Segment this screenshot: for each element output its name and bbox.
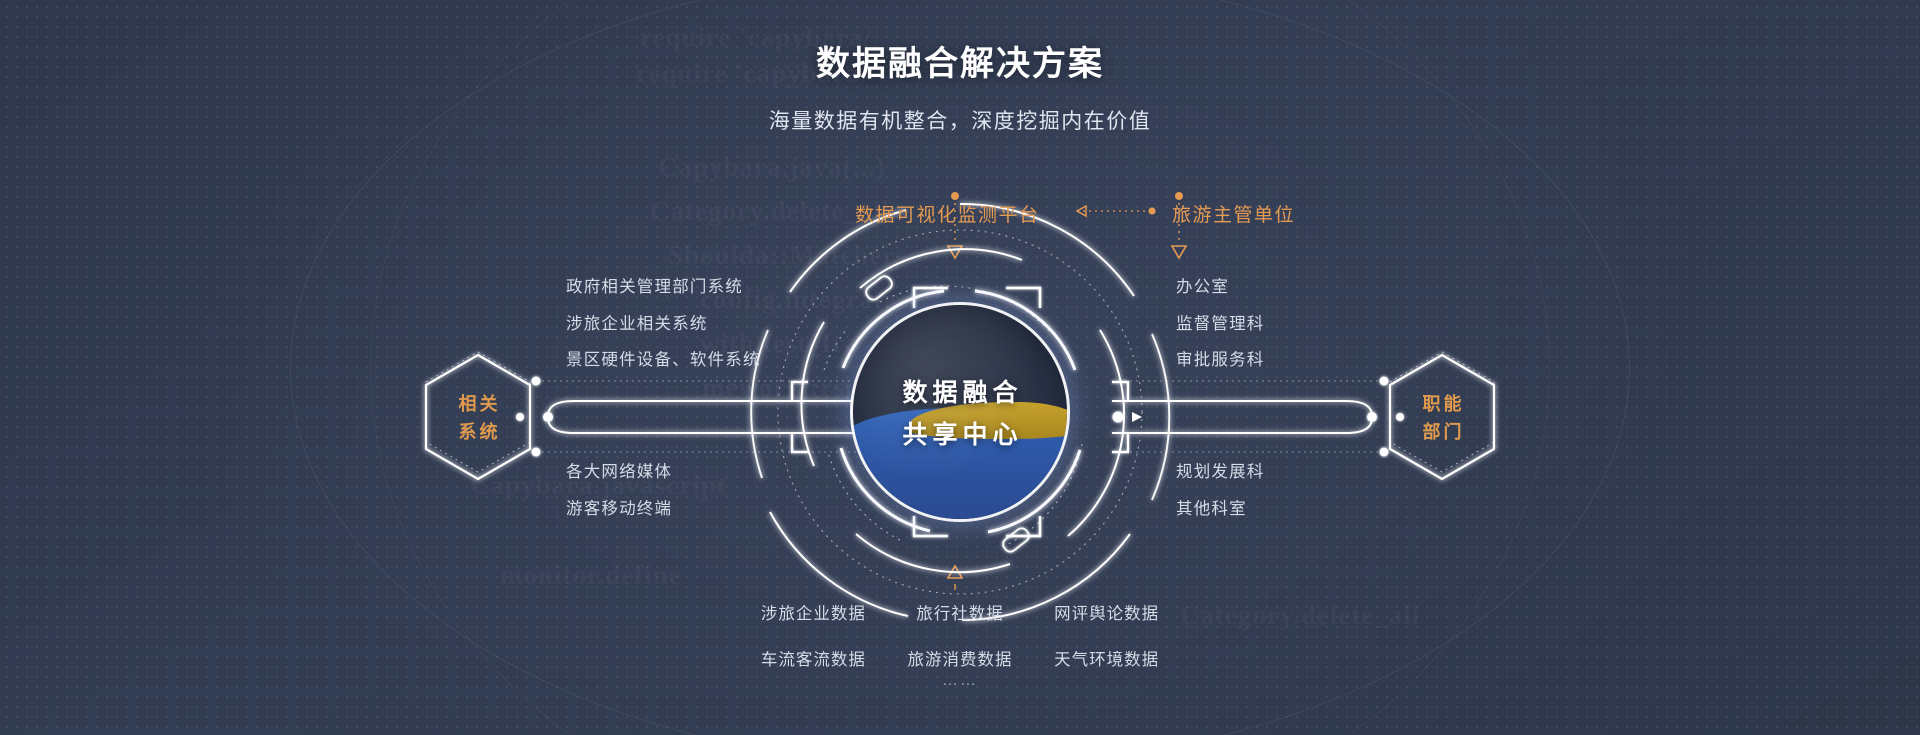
node-label-line1: 相关 xyxy=(456,390,501,416)
list-right-lower: 规划发展科 其他科室 xyxy=(1176,464,1265,537)
node-functional-departments[interactable]: 职能 部门 xyxy=(1384,351,1500,483)
node-label: 相关 系统 xyxy=(420,351,536,483)
globe-gloss xyxy=(853,305,1067,519)
solution-diagram-page: require 'capybara/ require 'capybara' Ca… xyxy=(0,0,1920,735)
list-item: 政府相关管理部门系统 xyxy=(566,279,761,296)
list-item: 网评舆论数据 xyxy=(1033,600,1180,624)
list-item: 车流客流数据 xyxy=(740,646,887,670)
list-item: 审批服务科 xyxy=(1176,352,1265,369)
bottom-ellipsis: …… xyxy=(740,672,1180,690)
node-label-line2: 部门 xyxy=(1420,418,1465,444)
list-item: 办公室 xyxy=(1176,279,1265,296)
list-item: 规划发展科 xyxy=(1176,464,1265,481)
node-label: 职能 部门 xyxy=(1384,351,1500,483)
list-item: 天气环境数据 xyxy=(1033,646,1180,670)
list-left-upper: 政府相关管理部门系统 涉旅企业相关系统 景区硬件设备、软件系统 xyxy=(566,279,761,389)
list-item: 其他科室 xyxy=(1176,501,1265,518)
label-tourism-authority[interactable]: 旅游主管单位 xyxy=(1172,200,1295,227)
list-item: 游客移动终端 xyxy=(566,501,672,518)
node-label-line2: 系统 xyxy=(456,418,501,444)
list-item: 涉旅企业相关系统 xyxy=(566,316,761,333)
list-item: 监督管理科 xyxy=(1176,316,1265,333)
node-related-systems[interactable]: 相关 系统 xyxy=(420,351,536,483)
globe-sphere xyxy=(853,305,1067,519)
list-bottom-data-sources: 涉旅企业数据 旅行社数据 网评舆论数据 车流客流数据 旅游消费数据 天气环境数据 xyxy=(740,600,1180,670)
list-item: 涉旅企业数据 xyxy=(740,600,887,624)
node-label-line1: 职能 xyxy=(1420,390,1465,416)
label-visualization-platform[interactable]: 数据可视化监测平台 xyxy=(855,200,1040,227)
list-item: 景区硬件设备、软件系统 xyxy=(566,352,761,369)
list-item: 旅游消费数据 xyxy=(887,646,1034,670)
list-item: 各大网络媒体 xyxy=(566,464,672,481)
list-item: 旅行社数据 xyxy=(887,600,1034,624)
list-left-lower: 各大网络媒体 游客移动终端 xyxy=(566,464,672,537)
list-right-upper: 办公室 监督管理科 审批服务科 xyxy=(1176,279,1265,389)
